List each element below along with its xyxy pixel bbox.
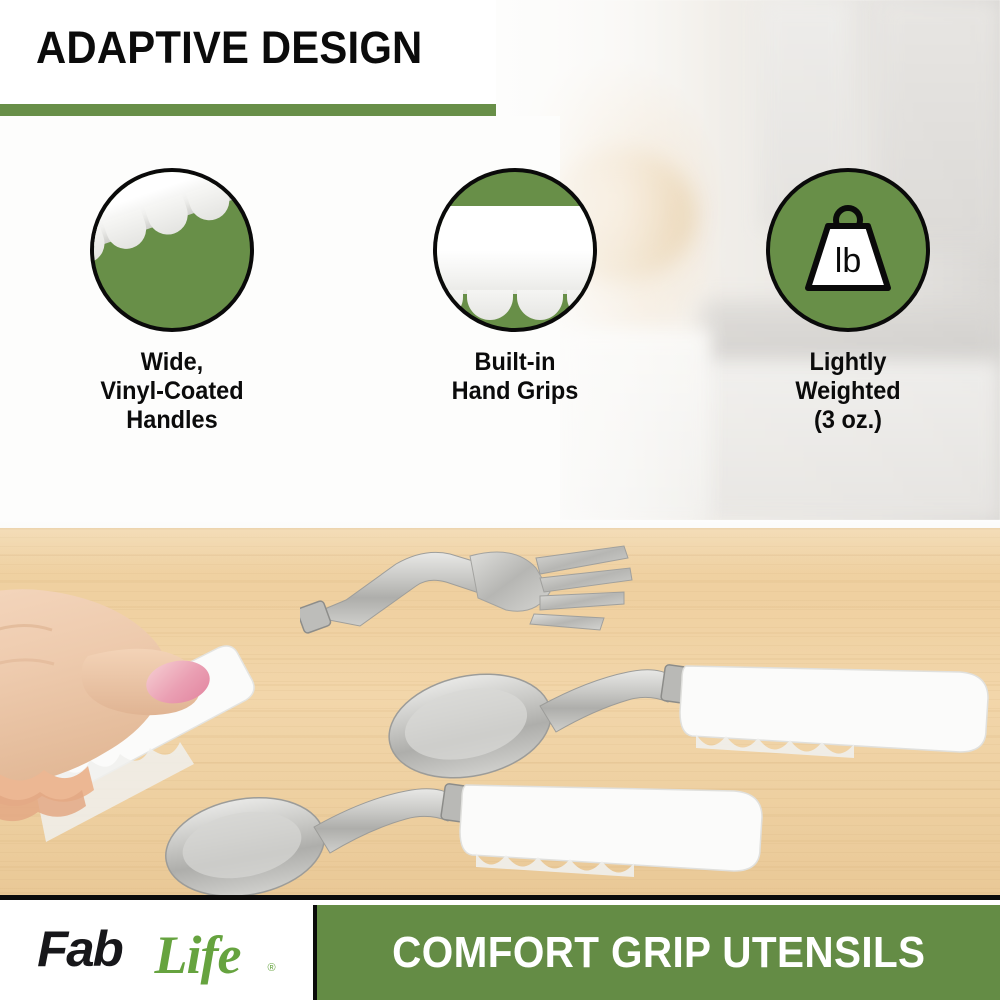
weight-icon-label: lb bbox=[835, 242, 861, 280]
feature-caption-3: Lightly Weighted (3 oz.) bbox=[731, 348, 966, 435]
feature-caption-3-line-2: Weighted bbox=[731, 377, 966, 406]
page-title: ADAPTIVE DESIGN bbox=[36, 22, 422, 74]
feature-caption-1-line-3: Handles bbox=[55, 406, 290, 435]
top-feature-section: ADAPTIVE DESIGN Wide, Vinyl-Coated Handl… bbox=[0, 0, 1000, 520]
handle-scallops-horizontal bbox=[433, 290, 597, 324]
feature-caption-1: Wide, Vinyl-Coated Handles bbox=[55, 348, 290, 435]
feature-caption-2-line-1: Built-in bbox=[398, 348, 633, 377]
feature-caption-2: Built-in Hand Grips bbox=[398, 348, 633, 406]
brand-logo-area: Fab Life ® bbox=[0, 905, 313, 1000]
photo-bottom-border bbox=[0, 895, 1000, 900]
feature-built-in-hand-grips: Built-in Hand Grips bbox=[390, 168, 640, 406]
hand-holding-utensil bbox=[0, 560, 380, 860]
fablife-logo: Fab Life ® bbox=[32, 920, 282, 986]
feature-caption-2-line-2: Hand Grips bbox=[398, 377, 633, 406]
feature-caption-1-line-2: Vinyl-Coated bbox=[55, 377, 290, 406]
feature-wide-vinyl-coated-handles: Wide, Vinyl-Coated Handles bbox=[47, 168, 297, 435]
feature-caption-1-line-1: Wide, bbox=[55, 348, 290, 377]
header-green-rule bbox=[0, 104, 496, 116]
feature-caption-3-line-3: (3 oz.) bbox=[731, 406, 966, 435]
registered-trademark-icon: ® bbox=[268, 962, 276, 974]
feature-circle-2 bbox=[433, 168, 597, 332]
feature-circle-3: lb bbox=[766, 168, 930, 332]
feature-caption-3-line-1: Lightly bbox=[731, 348, 966, 377]
footer-banner: COMFORT GRIP UTENSILS bbox=[317, 905, 1000, 1000]
weight-lb-icon: lb bbox=[794, 200, 902, 300]
footer-banner-text: COMFORT GRIP UTENSILS bbox=[392, 929, 925, 977]
logo-text-life: Life bbox=[155, 928, 241, 982]
hand-grips-handle-icon bbox=[433, 206, 597, 294]
feature-circle-1 bbox=[90, 168, 254, 332]
feature-lightly-weighted: lb Lightly Weighted (3 oz.) bbox=[723, 168, 973, 435]
product-photo bbox=[0, 520, 1000, 900]
logo-text-fab: Fab bbox=[37, 924, 122, 974]
footer: Fab Life ® COMFORT GRIP UTENSILS bbox=[0, 905, 1000, 1000]
